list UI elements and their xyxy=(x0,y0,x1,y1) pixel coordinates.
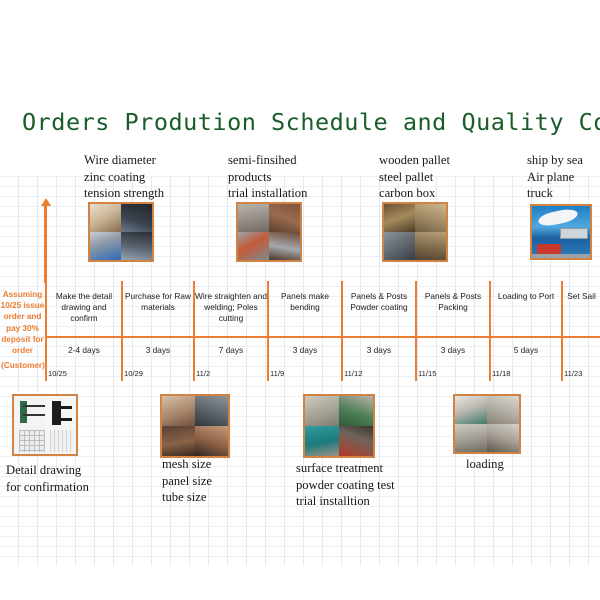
timeline-date: 11/18 xyxy=(492,369,510,378)
caption-line: Wire diameter xyxy=(84,152,164,169)
timeline-duration: 3 days xyxy=(417,345,489,355)
timeline-date: 10/25 xyxy=(48,369,67,378)
caption-loading: loading xyxy=(466,456,504,473)
photo-surface xyxy=(303,394,375,458)
timeline-task-label: Make the detail drawing and confirm xyxy=(47,291,121,324)
caption-line: ship by sea xyxy=(527,152,583,169)
timeline-date: 11/23 xyxy=(564,369,582,378)
photo-detail-drawing xyxy=(12,394,78,456)
timeline-date: 11/9 xyxy=(270,369,284,378)
timeline-axis xyxy=(46,336,600,338)
timeline-task-label: Panels & Posts Packing xyxy=(417,291,489,313)
caption-line: trial installtion xyxy=(296,493,395,510)
caption-line: carbon box xyxy=(379,185,450,202)
timeline-duration: 3 days xyxy=(123,345,193,355)
timeline-duration: 5 days xyxy=(491,345,561,355)
caption-line: mesh size xyxy=(162,456,212,473)
timeline-date: 11/12 xyxy=(344,369,362,378)
caption-line: for confirmation xyxy=(6,479,89,496)
timeline-date: 11/15 xyxy=(418,369,436,378)
caption-line: tube size xyxy=(162,489,212,506)
timeline-duration: 7 days xyxy=(195,345,267,355)
caption-line: panel size xyxy=(162,473,212,490)
caption-line: products xyxy=(228,169,307,186)
caption-line: powder coating test xyxy=(296,477,395,494)
caption-sizes: mesh size panel size tube size xyxy=(162,456,212,506)
timeline-date: 10/29 xyxy=(124,369,143,378)
timeline-date: 11/2 xyxy=(196,369,210,378)
timeline-duration: 2-4 days xyxy=(47,345,121,355)
timeline-task-label: Panels make bending xyxy=(269,291,341,313)
photo-transport xyxy=(530,204,592,260)
caption-line: truck xyxy=(527,185,583,202)
caption-packing: wooden pallet steel pallet carbon box xyxy=(379,152,450,202)
caption-line: zinc coating xyxy=(84,169,164,186)
caption-line: loading xyxy=(466,456,504,473)
timeline-task-label: Panels & Posts Powder coating xyxy=(343,291,415,313)
photo-trial-installation xyxy=(236,202,302,262)
slide-canvas: Orders Prodution Schedule and Quality Co… xyxy=(0,0,600,600)
timeline-task-label: Loading to Port xyxy=(491,291,561,302)
caption-detail-drawing: Detail drawing for confirmation xyxy=(6,462,89,495)
caption-line: surface treatment xyxy=(296,460,395,477)
photo-loading xyxy=(453,394,521,454)
caption-line: semi-finsihed xyxy=(228,152,307,169)
caption-semi-finished: semi-finsihed products trial installatio… xyxy=(228,152,307,202)
caption-line: trial installation xyxy=(228,185,307,202)
timeline-task-label: Set Sail xyxy=(563,291,600,302)
caption-line: wooden pallet xyxy=(379,152,450,169)
timeline-duration: 3 days xyxy=(343,345,415,355)
timeline-task-label: Wire straighten and welding; Poles cutti… xyxy=(195,291,267,324)
caption-quality-inspection: Wire diameter zinc coating tension stren… xyxy=(84,152,164,202)
timeline-duration: 3 days xyxy=(269,345,341,355)
photo-wire-testing xyxy=(88,202,154,262)
photo-size-check xyxy=(160,394,230,458)
caption-line: Detail drawing xyxy=(6,462,89,479)
caption-line: Air plane xyxy=(527,169,583,186)
timeline-task-label: Purchase for Raw materials xyxy=(123,291,193,313)
up-arrow-indicator xyxy=(44,205,47,283)
page-title: Orders Prodution Schedule and Quality Co… xyxy=(22,108,600,136)
caption-shipping: ship by sea Air plane truck xyxy=(527,152,583,202)
caption-line: tension strength xyxy=(84,185,164,202)
caption-line: steel pallet xyxy=(379,169,450,186)
timeline: Make the detail drawing and confirm Purc… xyxy=(0,281,600,381)
photo-pallets xyxy=(382,202,448,262)
caption-surface: surface treatment powder coating test tr… xyxy=(296,460,395,510)
